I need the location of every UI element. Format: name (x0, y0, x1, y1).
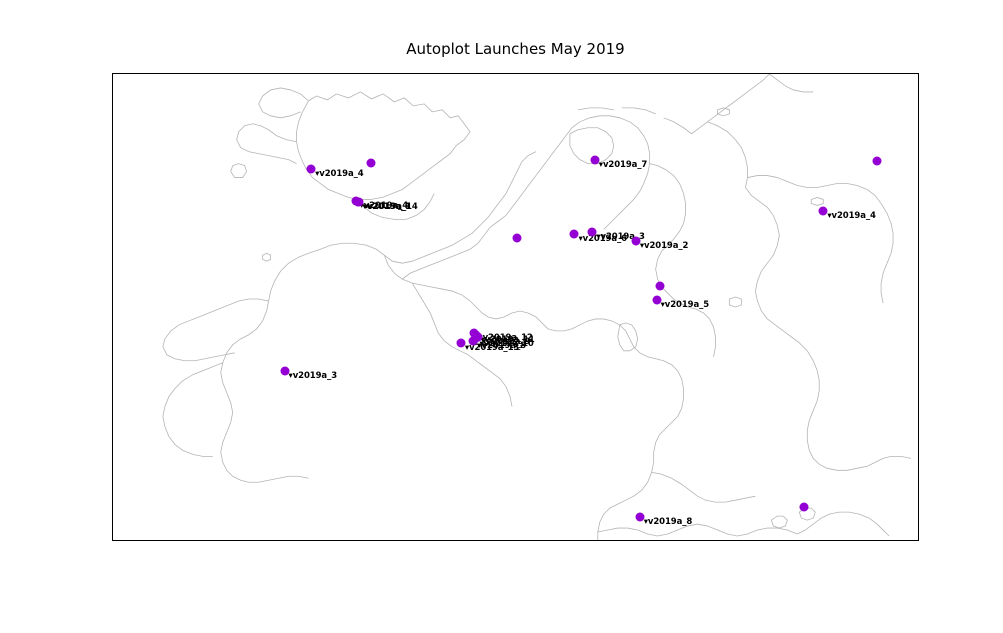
xtick-minor-3 (508, 540, 509, 541)
data-point-label: ▾v2019a_3 (289, 371, 337, 381)
data-point[interactable] (366, 159, 375, 168)
data-point-label: ▾v2019a_5 (661, 300, 709, 310)
data-point-label: ▾v2019a_2 (640, 241, 688, 251)
xtick-6: 6 (653, 540, 654, 541)
xtick-neg4: -4 (171, 540, 172, 541)
scatter-map-axes[interactable]: 54 52 50 48 46 -4 -2 0 2 4 6 8 10 (112, 73, 919, 541)
data-point[interactable] (656, 282, 665, 291)
data-point[interactable] (512, 233, 521, 242)
data-point[interactable] (800, 502, 809, 511)
xtick-10: 10 (846, 540, 847, 541)
xtick-minor-1 (412, 540, 413, 541)
xtick-minor-7 (701, 540, 702, 541)
data-point[interactable] (873, 157, 882, 166)
xtick-neg2: -2 (267, 540, 268, 541)
xtick-2: 2 (460, 540, 461, 541)
xtick-minor-neg3 (219, 540, 220, 541)
xtick-8: 8 (749, 540, 750, 541)
data-point-label: ▾v2019a_8 (477, 341, 525, 351)
data-point-label: ▾v2019a_4 (827, 211, 875, 221)
figure-canvas: Autoplot Launches May 2019 (0, 0, 1003, 633)
xtick-0: 0 (364, 540, 365, 541)
data-point-label: ▾v2019a_8 (644, 517, 692, 527)
data-point-label: ▾v2019a_14 (363, 202, 417, 212)
xtick-minor-11 (894, 540, 895, 541)
xtick-minor-5 (605, 540, 606, 541)
xtick-minor-9 (797, 540, 798, 541)
xtick-minor-neg5 (123, 540, 124, 541)
xtick-minor-neg1 (315, 540, 316, 541)
page-title: Autoplot Launches May 2019 (112, 40, 919, 58)
basemap-geometry (113, 74, 918, 540)
data-point-label: ▾v2019a_4 (315, 169, 363, 179)
data-point-label: ▾v2019a_7 (599, 160, 647, 170)
xtick-4: 4 (556, 540, 557, 541)
